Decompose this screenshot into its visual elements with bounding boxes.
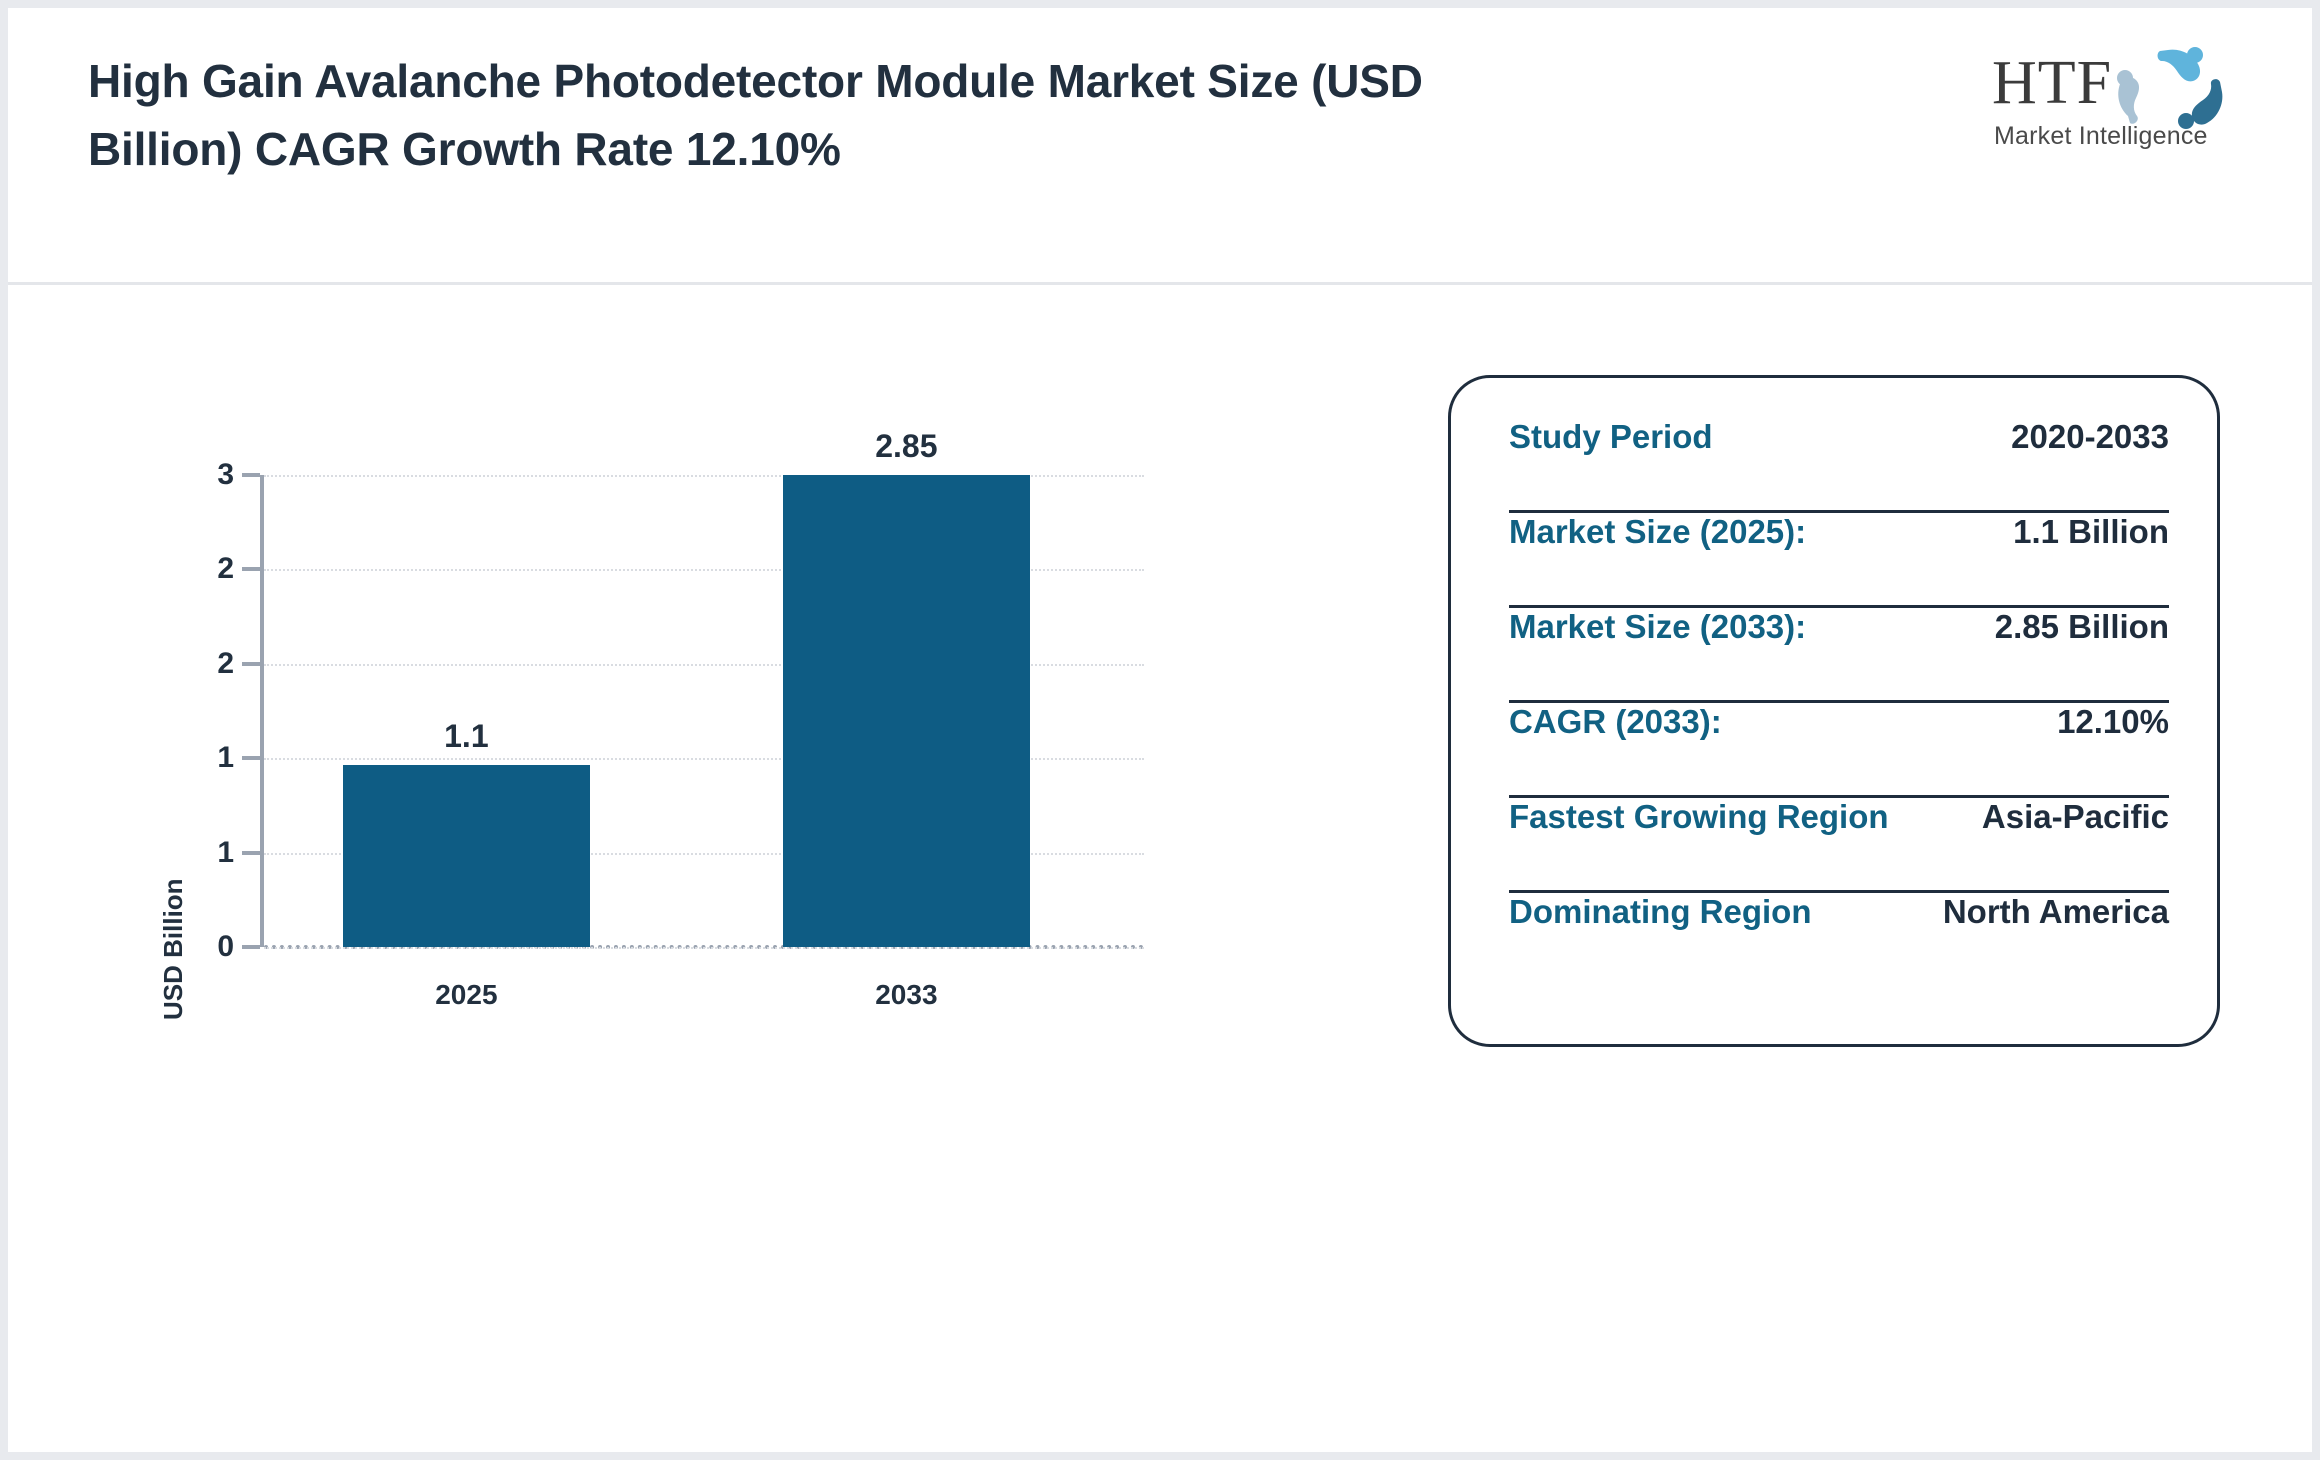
y-tick-mark [242,662,260,666]
bar-value-label: 2.85 [875,428,937,465]
y-tick-label: 1 [217,741,234,775]
bar-chart: USD Billion 011223 1.120252.852033 [8,285,1348,1460]
page-title: High Gain Avalanche Photodetector Module… [88,48,1428,183]
report-infographic-page: High Gain Avalanche Photodetector Module… [0,0,2320,1460]
summary-row-value: North America [1943,893,2169,931]
summary-row-value: 2020-2033 [2011,418,2169,456]
htf-market-intelligence-logo: HTF Market Intelligence [1992,46,2222,164]
y-tick-label: 0 [217,930,234,964]
page-header: High Gain Avalanche Photodetector Module… [8,8,2312,285]
summary-row-label: Fastest Growing Region [1509,798,1889,836]
summary-row: Market Size (2033):2.85 Billion [1509,608,2169,703]
summary-row: CAGR (2033):12.10% [1509,703,2169,798]
gridline [264,947,1144,949]
summary-row: Study Period2020-2033 [1509,418,2169,513]
summary-row-value: 12.10% [2057,703,2169,741]
summary-row-value: 1.1 Billion [2013,513,2169,551]
y-tick-mark [242,851,260,855]
bar-2033[interactable]: 2.852033 [783,475,1029,947]
y-tick-label: 1 [217,836,234,870]
summary-row-label: Study Period [1509,418,1713,456]
market-summary-card: Study Period2020-2033Market Size (2025):… [1448,375,2220,1047]
x-tick-label: 2033 [875,979,937,1011]
summary-row-label: Market Size (2025): [1509,513,1806,551]
summary-row-value: Asia-Pacific [1982,798,2169,836]
summary-row: Dominating RegionNorth America [1509,893,2169,985]
summary-row-label: CAGR (2033): [1509,703,1722,741]
plot-area: 011223 1.120252.852033 [264,475,1144,947]
y-axis-title: USD Billion [158,878,189,1020]
bar-2025[interactable]: 1.12025 [343,765,589,947]
y-tick-mark [242,756,260,760]
summary-row-value: 2.85 Billion [1995,608,2169,646]
y-tick-label: 2 [217,552,234,586]
triskelion-people-icon [2110,46,2228,132]
y-tick-mark [242,567,260,571]
logo-wordmark: HTF [1992,52,2112,114]
bar-value-label: 1.1 [444,718,488,755]
summary-row-label: Dominating Region [1509,893,1811,931]
summary-row: Fastest Growing RegionAsia-Pacific [1509,798,2169,893]
y-tick-label: 2 [217,647,234,681]
summary-row-label: Market Size (2033): [1509,608,1806,646]
summary-row: Market Size (2025):1.1 Billion [1509,513,2169,608]
market-summary-rows: Study Period2020-2033Market Size (2025):… [1509,418,2169,985]
y-tick-mark [242,945,260,949]
y-tick-mark [242,473,260,477]
y-tick-label: 3 [217,458,234,492]
y-axis-line [260,475,264,947]
x-tick-label: 2025 [435,979,497,1011]
